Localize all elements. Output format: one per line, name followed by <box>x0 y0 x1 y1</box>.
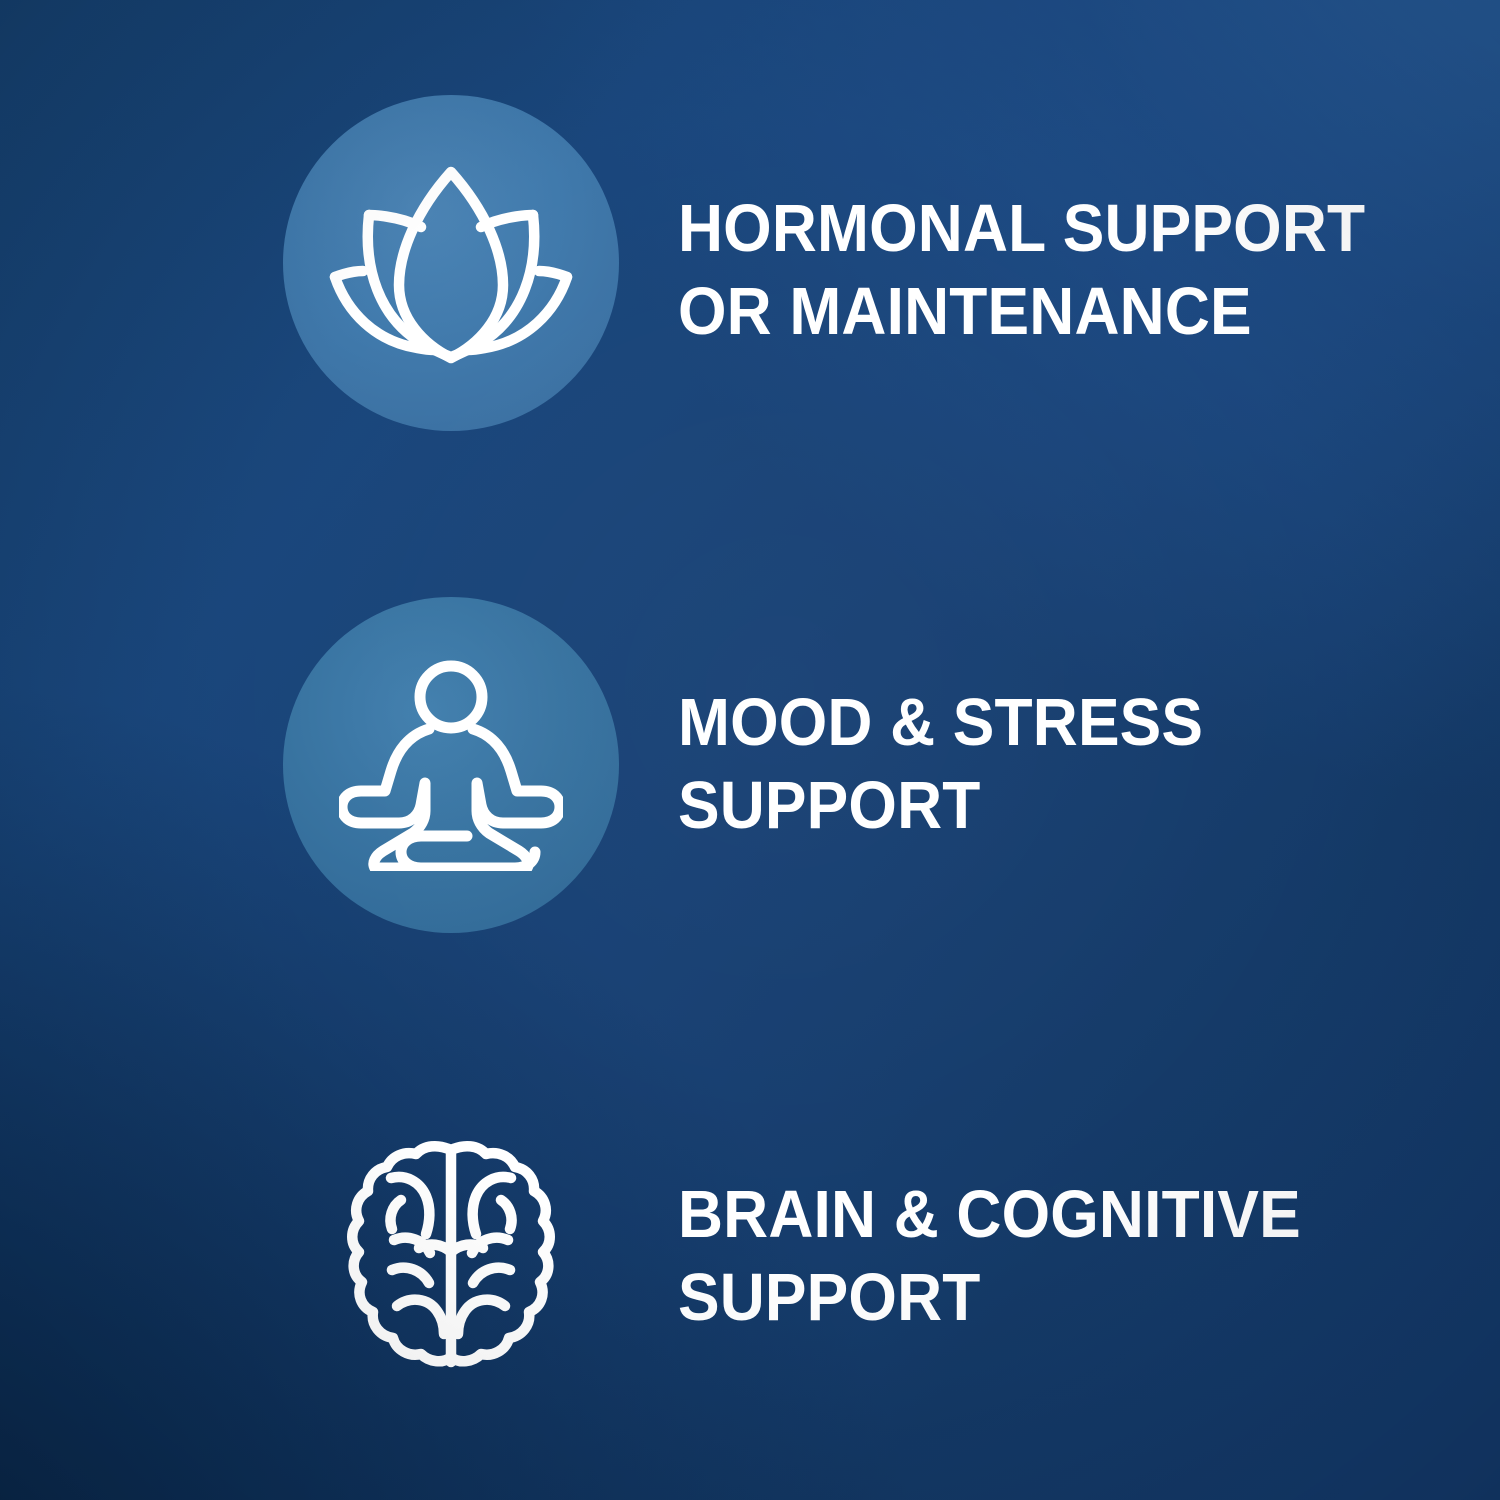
benefit-label-mood-stress-support: MOOD & STRESS SUPPORT <box>678 681 1413 847</box>
benefit-label-brain-cognitive-support: BRAIN & COGNITIVE SUPPORT <box>678 1173 1413 1339</box>
benefit-row-mood-stress-support: MOOD & STRESS SUPPORT <box>0 597 1500 933</box>
icon-badge-brain-cognitive-support <box>283 1087 619 1423</box>
benefit-label-hormonal-support: HORMONAL SUPPORT OR MAINTENANCE <box>678 187 1413 353</box>
benefit-row-hormonal-support: HORMONAL SUPPORT OR MAINTENANCE <box>0 95 1500 431</box>
meditating-person-icon <box>339 659 563 871</box>
icon-badge-mood-stress-support <box>283 597 619 933</box>
benefits-infographic: HORMONAL SUPPORT OR MAINTENANCE MOOD & S… <box>0 0 1500 1500</box>
icon-badge-hormonal-support <box>283 95 619 431</box>
lotus-flower-icon <box>327 158 575 368</box>
brain-icon <box>344 1140 558 1370</box>
benefit-row-brain-cognitive-support: BRAIN & COGNITIVE SUPPORT <box>0 1087 1500 1423</box>
